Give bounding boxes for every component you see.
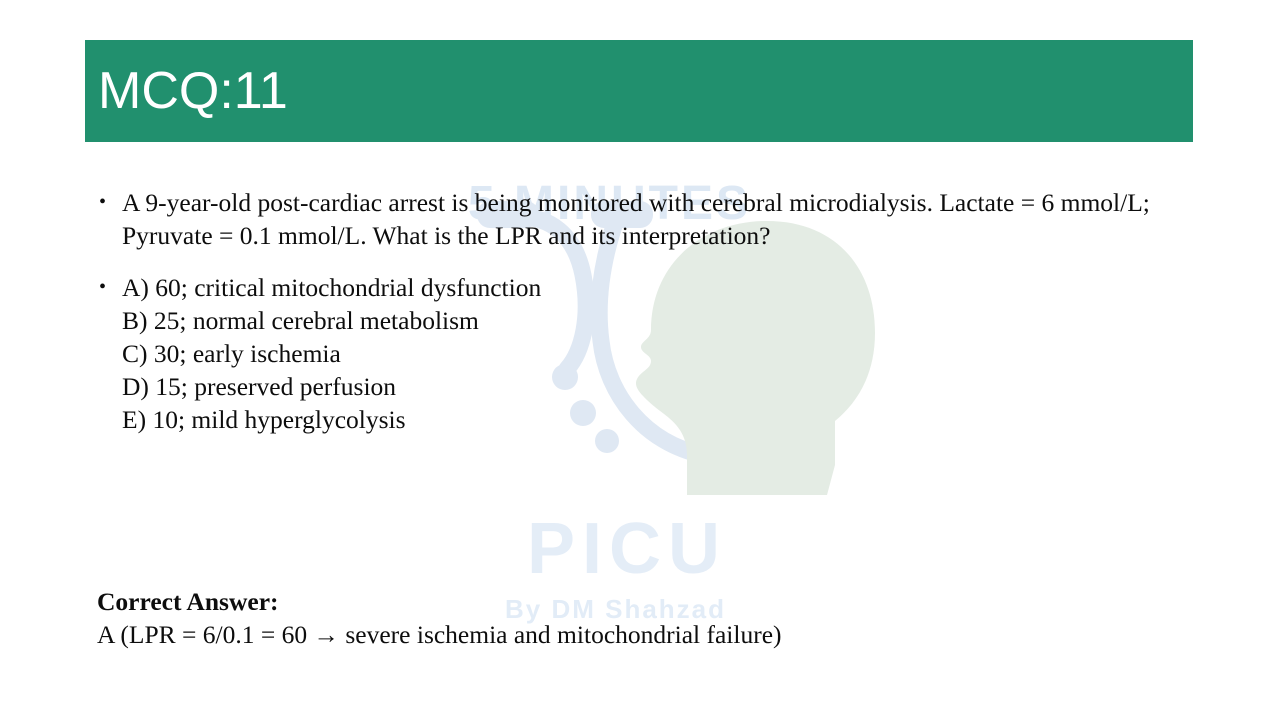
slide-canvas: 5 MINUTES PICU By DM Shahzad [0, 0, 1280, 720]
option-c[interactable]: C) 30; early ischemia [122, 337, 1185, 370]
option-b[interactable]: B) 25; normal cerebral metabolism [122, 304, 1185, 337]
page-title: MCQ:11 [98, 62, 288, 120]
option-a[interactable]: A) 60; critical mitochondrial dysfunctio… [122, 271, 1185, 304]
option-d[interactable]: D) 15; preserved perfusion [122, 370, 1185, 403]
correct-answer-label: Correct Answer: [97, 586, 1187, 618]
correct-answer-block: Correct Answer: A (LPR = 6/0.1 = 60 → se… [97, 586, 1187, 651]
options-bullet: A) 60; critical mitochondrial dysfunctio… [95, 271, 1185, 436]
title-banner: MCQ:11 [85, 40, 1193, 142]
slide-content: MCQ:11 A 9-year-old post-cardiac arrest … [0, 0, 1280, 720]
question-bullet: A 9-year-old post-cardiac arrest is bein… [95, 186, 1185, 252]
question-body: A 9-year-old post-cardiac arrest is bein… [95, 186, 1185, 436]
option-e[interactable]: E) 10; mild hyperglycolysis [122, 403, 1185, 436]
question-text: A 9-year-old post-cardiac arrest is bein… [122, 188, 1150, 250]
correct-answer-text: A (LPR = 6/0.1 = 60 → severe ischemia an… [97, 618, 1187, 651]
